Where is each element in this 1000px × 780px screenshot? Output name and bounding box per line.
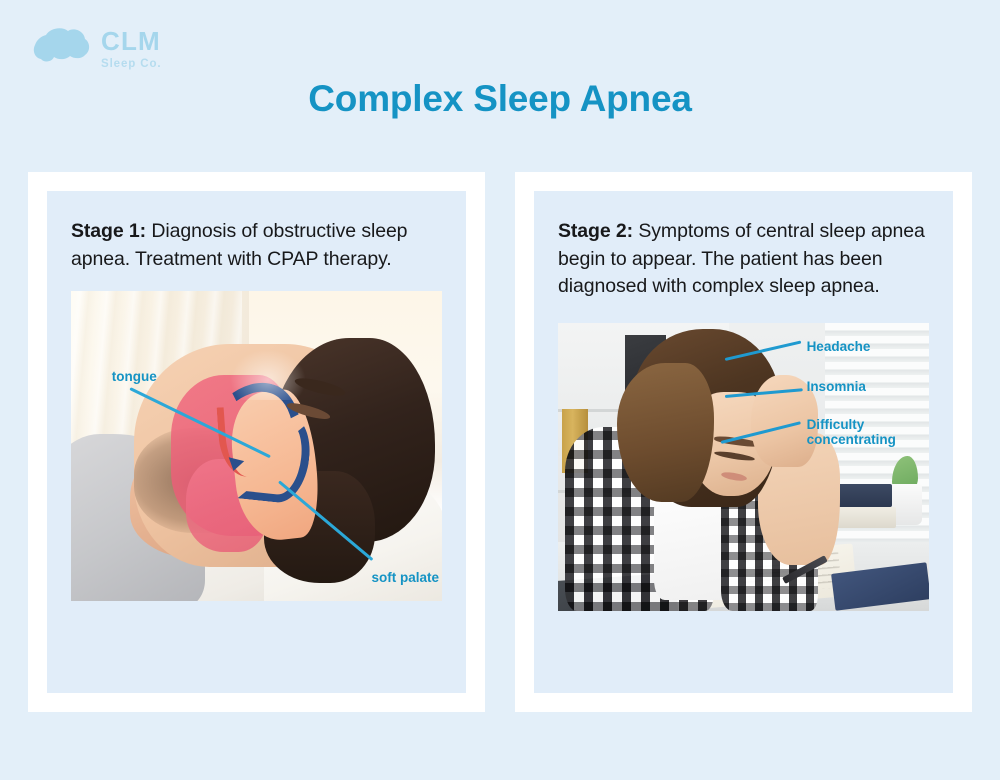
callout-insomnia: Insomnia [807,379,866,395]
stage-1-label: Stage 1: [71,220,146,242]
stage-2-figure: Headache Insomnia Difficulty concentrati… [558,323,929,611]
stage-card-2-inner: Stage 2: Symptoms of central sleep apnea… [534,191,953,693]
stage-cards: Stage 1: Diagnosis of obstructive sleep … [28,172,972,712]
brand-logo: CLM Sleep Co. [30,26,162,71]
brand-name: CLM [101,28,162,54]
callout-soft-palate: soft palate [372,570,440,586]
page-title: Complex Sleep Apnea [0,78,1000,120]
brand-tagline: Sleep Co. [101,59,162,71]
cloud-pillow-icon [30,26,92,70]
stage-card-2: Stage 2: Symptoms of central sleep apnea… [515,172,972,712]
stage-card-1: Stage 1: Diagnosis of obstructive sleep … [28,172,485,712]
callout-difficulty-concentrating: Difficulty concentrating [807,417,896,448]
sleeping-man-photo [71,291,442,601]
stage-1-text: Stage 1: Diagnosis of obstructive sleep … [71,218,442,273]
stage-2-label: Stage 2: [558,220,633,242]
tired-woman-photo [558,323,929,611]
stage-card-1-inner: Stage 1: Diagnosis of obstructive sleep … [47,191,466,693]
callout-headache: Headache [807,339,871,355]
stage-1-figure: tongue soft palate [71,291,442,601]
callout-tongue: tongue [112,369,157,385]
stage-2-text: Stage 2: Symptoms of central sleep apnea… [558,218,929,301]
